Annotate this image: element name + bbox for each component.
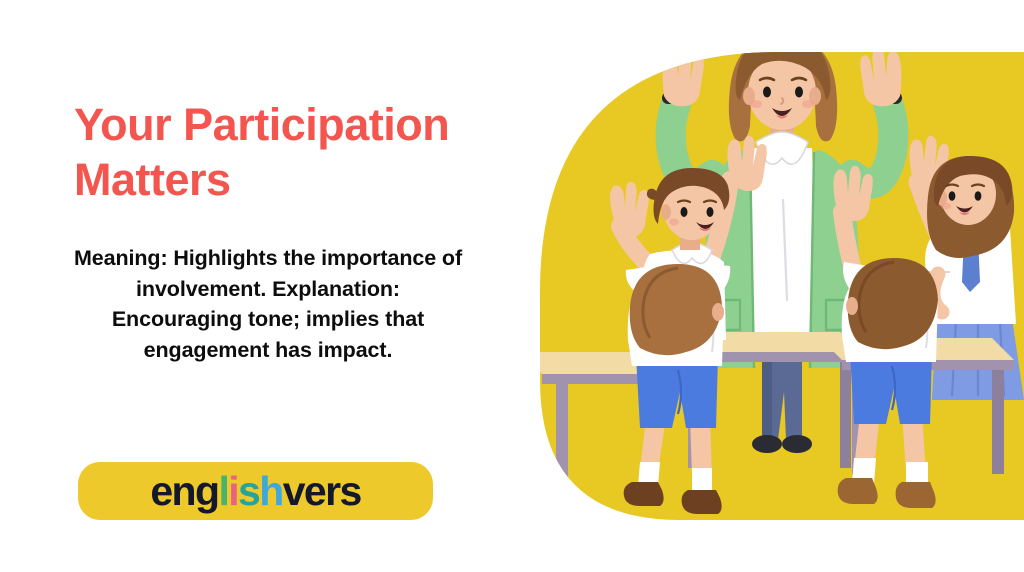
desk-center-leg-2	[840, 362, 851, 468]
englishvers-logo-badge[interactable]: englishvers	[78, 462, 433, 520]
text-panel: Your Participation Matters Meaning: High…	[0, 0, 540, 572]
logo-letter-l: l	[218, 471, 228, 512]
girl-cheek	[941, 203, 951, 210]
logo-text-vers: vers	[283, 471, 361, 512]
desk-right-leg-2	[992, 370, 1004, 474]
girl-eye-right	[975, 191, 982, 201]
boy-bl-cheek	[669, 219, 679, 226]
body-description: Meaning: Highlights the importance of in…	[68, 243, 468, 365]
logo-letter-s: s	[238, 471, 259, 512]
teacher-trouser-shade	[762, 352, 772, 440]
teacher-hand-right	[860, 47, 901, 106]
logo-wordmark: englishvers	[150, 471, 360, 512]
page-title-line-2: Matters	[74, 154, 231, 205]
page-title-line-1: Your Participation	[74, 99, 449, 150]
slide-canvas: Your Participation Matters Meaning: High…	[0, 0, 1024, 572]
illustration-svg	[540, 0, 1024, 572]
boy-fr-ear	[846, 297, 858, 315]
boy-bl-eye-right	[707, 207, 714, 217]
boy-fl-shoe-right	[682, 490, 722, 514]
boy-fr-shoe-right	[896, 482, 936, 508]
girl-eye-left	[949, 191, 956, 201]
boy-bl-ear	[661, 204, 671, 220]
classroom-illustration	[540, 0, 1024, 572]
teacher-eye-right	[795, 87, 803, 98]
teacher-cheek-left	[750, 100, 762, 108]
boy-fr-shoe-left	[838, 478, 878, 504]
teacher-eye-left	[763, 87, 771, 98]
teacher-shoe-left	[752, 435, 782, 453]
boy-bl-eye-left	[681, 207, 688, 217]
teacher-cheek-right	[802, 100, 814, 108]
boy-fl-shoe-left	[624, 482, 664, 506]
teacher-hand-left	[663, 47, 704, 106]
page-title: Your Participation Matters	[74, 98, 524, 208]
teacher-shoe-right	[782, 435, 812, 453]
boy-fl-ear	[712, 303, 724, 321]
logo-text-eng: eng	[150, 471, 218, 512]
logo-letter-h: h	[259, 471, 282, 512]
desk-left-leg-1	[556, 384, 568, 488]
logo-letter-i: i	[228, 471, 238, 512]
